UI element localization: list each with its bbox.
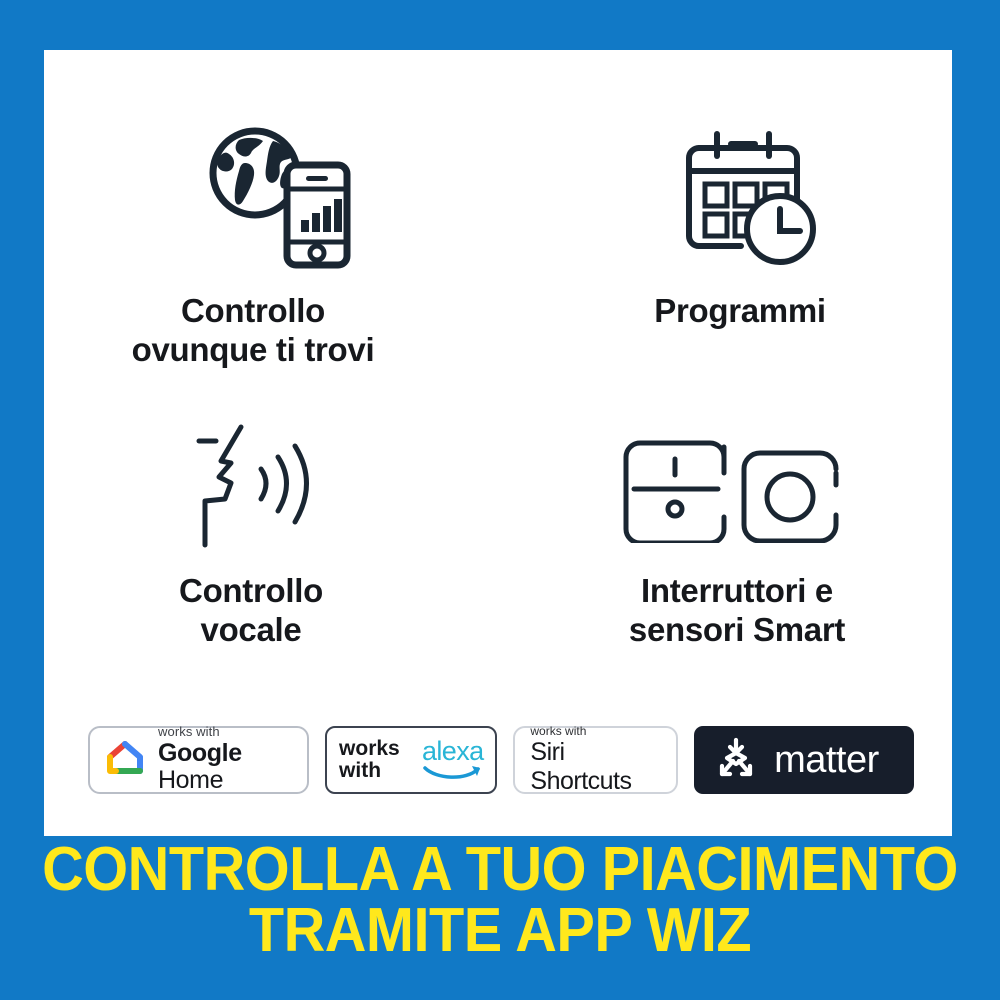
calendar-clock-icon [663, 118, 823, 278]
badge-line-1: works with [530, 725, 661, 738]
badge-text-block: works with [339, 738, 400, 782]
feature-label: Interruttori e sensori Smart [629, 572, 845, 650]
feature-voice-control: Controllo vocale [44, 408, 498, 708]
alexa-wordmark: alexa [422, 739, 484, 765]
alexa-smile-icon: alexa [422, 739, 484, 781]
badge-text-block: works with Siri Shortcuts [530, 725, 661, 796]
badge-line-1: works with [158, 725, 293, 740]
badge-alexa[interactable]: works with alexa [325, 726, 497, 794]
badge-siri-shortcuts[interactable]: works with Siri Shortcuts [513, 726, 678, 794]
badge-google-home[interactable]: works with Google Home [88, 726, 309, 794]
badge-text-block: works with Google Home [158, 725, 293, 795]
badge-line-1: works [339, 738, 400, 760]
headline-line-2: TRAMITE APP WIZ [35, 901, 965, 962]
badge-line-2: with [339, 760, 400, 782]
feature-label: Controllo vocale [179, 572, 323, 650]
globe-phone-icon [201, 118, 361, 278]
headline-line-1: CONTROLLA A TUO PIACIMENTO [35, 840, 965, 901]
switch-sensor-icon [618, 418, 848, 558]
badge-line-2: Google Home [158, 740, 293, 795]
white-content-card: Controllo ovunque ti trovi [44, 50, 952, 836]
matter-logo-icon [714, 736, 758, 785]
feature-switches-sensors: Interruttori e sensori Smart [498, 408, 952, 708]
badge-matter[interactable]: matter [694, 726, 914, 794]
google-home-house-icon [104, 738, 146, 783]
feature-label: Programmi [654, 292, 826, 331]
headline: CONTROLLA A TUO PIACIMENTO TRAMITE APP W… [35, 840, 965, 962]
badge-line-2: Siri Shortcuts [530, 738, 661, 796]
matter-wordmark: matter [774, 741, 879, 779]
feature-schedules: Programmi [498, 108, 952, 408]
google-wordmark: Google [158, 739, 242, 767]
home-wordmark: Home [158, 766, 223, 794]
feature-label: Controllo ovunque ti trovi [132, 292, 375, 370]
feature-control-anywhere: Controllo ovunque ti trovi [44, 108, 498, 408]
feature-grid: Controllo ovunque ti trovi [44, 108, 952, 708]
partner-badges-row: works with Google Home works with alexa … [88, 725, 914, 795]
voice-profile-icon [179, 418, 339, 558]
